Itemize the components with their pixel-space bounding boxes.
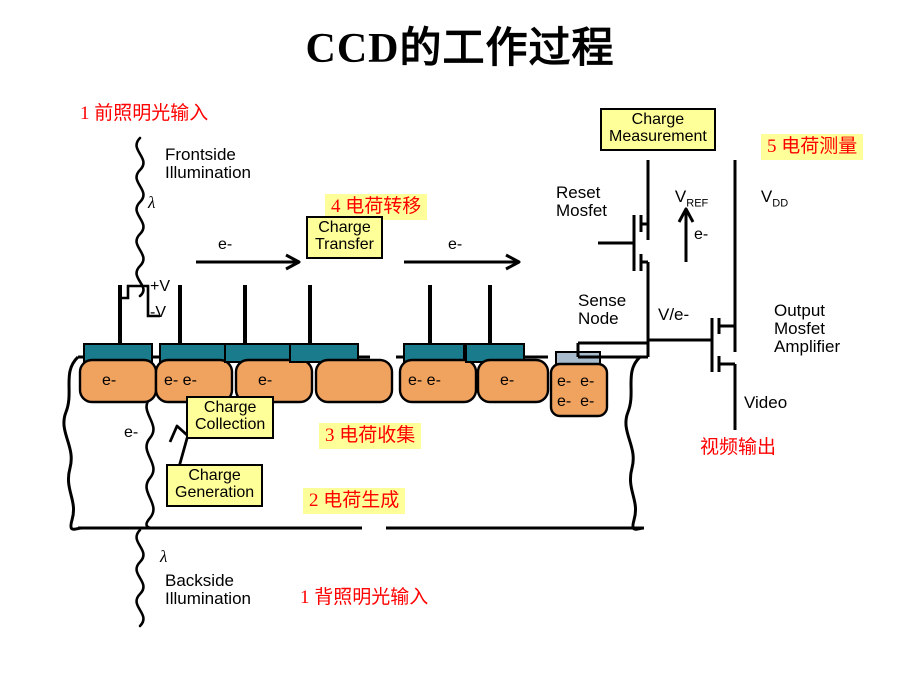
label-electron-generation: e- (124, 424, 138, 442)
frontside-light-wave-icon (137, 138, 144, 296)
well-2-electrons: e- e- (164, 372, 197, 390)
label-lambda-bottom: λ (160, 548, 167, 566)
label-v-ref: VREF (656, 170, 708, 228)
box-charge-transfer: Charge Transfer (306, 216, 383, 259)
annotation-step3: 3 电荷收集 (300, 405, 421, 468)
annotation-step2: 2 电荷生成 (284, 470, 405, 533)
label-electron-transfer-left: e- (218, 236, 232, 254)
label-backside-illumination: Backside Illumination (165, 572, 251, 608)
label-v-dd-main: V (761, 187, 772, 206)
label-video: Video (744, 394, 787, 412)
substrate-right-break-line (626, 357, 644, 529)
annotation-step3-text: 3 电荷收集 (319, 423, 421, 449)
label-electron-up-arrow: e- (694, 226, 708, 244)
charge-transfer-arrow-right (404, 255, 519, 269)
annotation-step5-text: 5 电荷测量 (761, 134, 863, 160)
well-5-electrons: e- e- (408, 372, 441, 390)
label-v-dd-sub: DD (772, 197, 788, 209)
label-minus-v: -V (150, 305, 166, 322)
box-charge-measurement: Charge Measurement (600, 108, 716, 151)
label-v-dd: VDD (742, 170, 788, 228)
annotation-step1-back: 1 背照明光输入 (300, 588, 428, 609)
annotation-step1-front: 1 前照明光输入 (80, 104, 208, 125)
annotation-video-output: 视频输出 (700, 438, 776, 459)
box-charge-collection: Charge Collection (186, 396, 274, 439)
label-electron-transfer-right: e- (448, 236, 462, 254)
annotation-step2-text: 2 电荷生成 (303, 488, 405, 514)
charge-well-1 (80, 344, 156, 402)
label-v-per-e: V/e- (658, 306, 689, 324)
label-plus-v: +V (150, 279, 170, 296)
well-6-electrons: e- (500, 372, 514, 390)
label-lambda-top: λ (148, 194, 155, 212)
gate-stems (120, 285, 490, 345)
charge-transfer-arrow-left (196, 255, 299, 269)
well-3-electrons: e- (258, 372, 272, 390)
well-sense-node-electrons: e- e- e- e- (557, 372, 594, 412)
box-charge-generation: Charge Generation (166, 464, 263, 507)
label-reset-mosfet: Reset Mosfet (556, 184, 607, 220)
label-v-ref-main: V (675, 187, 686, 206)
label-sense-node: Sense Node (578, 292, 626, 328)
label-v-ref-sub: REF (686, 197, 708, 209)
well-1-electrons: e- (102, 372, 116, 390)
label-output-mosfet-amplifier: Output Mosfet Amplifier (774, 302, 840, 356)
label-frontside-illumination: Frontside Illumination (165, 146, 251, 182)
backside-light-wave-icon (137, 530, 144, 626)
slide-canvas: CCD的工作过程 (0, 0, 920, 690)
